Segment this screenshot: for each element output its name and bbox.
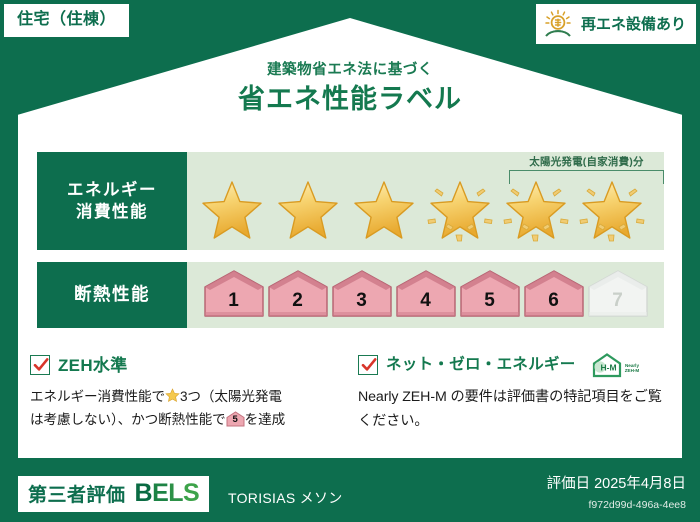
house-type-tag-label: 住宅（住棟） xyxy=(17,11,116,28)
notes-section: ZEH水準 エネルギー消費性能で3つ（太陽光発電 は考慮しない）、かつ断熱性能で… xyxy=(30,352,670,434)
insulation-grade-4: 4 xyxy=(395,269,457,319)
insulation-grade-number: 2 xyxy=(267,291,329,310)
page-title: 建築物省エネ法に基づく 省エネ性能ラベル xyxy=(0,62,700,115)
star-1 xyxy=(195,173,269,245)
renewable-equipment-badge: 再エネ設備あり xyxy=(536,4,696,44)
bels-letter-s: S xyxy=(183,479,199,507)
note-zeh-text-4: を達成 xyxy=(245,412,285,427)
energy-performance-label: 住宅（住棟） 再エネ設備あり 建築 xyxy=(0,0,700,522)
note-zeh-text-3: は考慮しない）、かつ断熱性能で xyxy=(30,412,226,427)
insulation-grade-number: 1 xyxy=(203,291,265,310)
insulation-row-label-text: 断熱性能 xyxy=(74,283,150,307)
star-icon xyxy=(352,179,416,241)
star-icon xyxy=(276,179,340,241)
checkmark-icon xyxy=(30,355,50,375)
svg-text:ZEH-M: ZEH-M xyxy=(624,368,639,373)
solar-sun-icon xyxy=(542,9,574,39)
evaluation-id: f972d99d-496a-4ee8 xyxy=(588,500,686,511)
star-4 xyxy=(423,173,497,245)
energy-row-label-line1: エネルギー xyxy=(67,179,157,201)
note-zeh-standard: ZEH水準 エネルギー消費性能で3つ（太陽光発電 は考慮しない）、かつ断熱性能で… xyxy=(30,352,336,434)
title-main: 省エネ性能ラベル xyxy=(0,85,700,115)
renewable-badge-label: 再エネ設備あり xyxy=(581,17,686,32)
note-zeh-header: ZEH水準 xyxy=(30,352,336,378)
svg-text:H-M: H-M xyxy=(600,363,616,373)
energy-row-label-line2: 消費性能 xyxy=(76,201,148,223)
project-name: TORISIAS メソン xyxy=(228,491,343,505)
insulation-grade-1: 1 xyxy=(203,269,265,319)
note-nze-body: Nearly ZEH-M の要件は評価書の特記項目をご覧ください。 xyxy=(358,385,664,434)
insulation-grade-number: 7 xyxy=(587,291,649,310)
bels-logo: BELS xyxy=(135,481,200,506)
bels-letter-b: B xyxy=(135,479,153,507)
note-net-zero-energy: ネット・ゼロ・エネルギー H-M Nearly ZEH-M Nearly ZEH… xyxy=(358,352,664,434)
note-nze-header: ネット・ゼロ・エネルギー H-M Nearly ZEH-M xyxy=(358,352,664,378)
insulation-grade-number: 5 xyxy=(459,291,521,310)
zeh-m-logo-icon: H-M Nearly ZEH-M xyxy=(588,352,644,378)
insulation-row-label: 断熱性能 xyxy=(37,262,187,328)
energy-row-body: 太陽光発電(自家消費)分 xyxy=(187,152,664,250)
solar-bracket xyxy=(509,170,664,184)
checkmark-icon xyxy=(358,355,378,375)
bels-badge: 第三者評価 BELS xyxy=(18,476,209,512)
insulation-grade-2: 2 xyxy=(267,269,329,319)
star-3 xyxy=(347,173,421,245)
bels-letter-e: E xyxy=(152,479,168,507)
inline-house-badge-icon: 5 xyxy=(226,411,245,427)
insulation-grade-3: 3 xyxy=(331,269,393,319)
insulation-row-body: 1234567 xyxy=(187,262,664,328)
note-zeh-body: エネルギー消費性能で3つ（太陽光発電 は考慮しない）、かつ断熱性能で5を達成 xyxy=(30,385,336,432)
energy-row-label: エネルギー 消費性能 xyxy=(37,152,187,250)
insulation-performance-row: 断熱性能 1234567 xyxy=(37,262,664,328)
star-icon xyxy=(200,179,264,241)
evaluation-date: 評価日 2025年4月8日 xyxy=(547,477,686,492)
note-zeh-text-1: エネルギー消費性能で xyxy=(30,389,165,404)
insulation-grade-number: 6 xyxy=(523,291,585,310)
insulation-grade-7: 7 xyxy=(587,269,649,319)
insulation-grade-number: 4 xyxy=(395,291,457,310)
title-subtitle: 建築物省エネ法に基づく xyxy=(0,62,700,79)
energy-performance-row: エネルギー 消費性能 太陽光発電(自家消費)分 xyxy=(37,152,664,250)
note-zeh-title: ZEH水準 xyxy=(58,357,128,374)
inline-house-badge-number: 5 xyxy=(226,415,245,425)
insulation-grade-scale: 1234567 xyxy=(187,262,664,328)
house-type-tag: 住宅（住棟） xyxy=(4,4,129,37)
insulation-grade-6: 6 xyxy=(523,269,585,319)
third-party-eval-label: 第三者評価 xyxy=(28,486,126,505)
star-2 xyxy=(271,173,345,245)
insulation-grade-number: 3 xyxy=(331,291,393,310)
insulation-grade-5: 5 xyxy=(459,269,521,319)
solar-sparkle-icon xyxy=(423,173,497,245)
bels-letter-l: L xyxy=(168,479,183,507)
inline-star-icon xyxy=(165,387,180,402)
solar-bracket-label: 太陽光発電(自家消費)分 xyxy=(479,154,694,169)
note-nze-title: ネット・ゼロ・エネルギー xyxy=(386,357,576,373)
note-zeh-text-2: 3つ（太陽光発電 xyxy=(180,389,282,404)
